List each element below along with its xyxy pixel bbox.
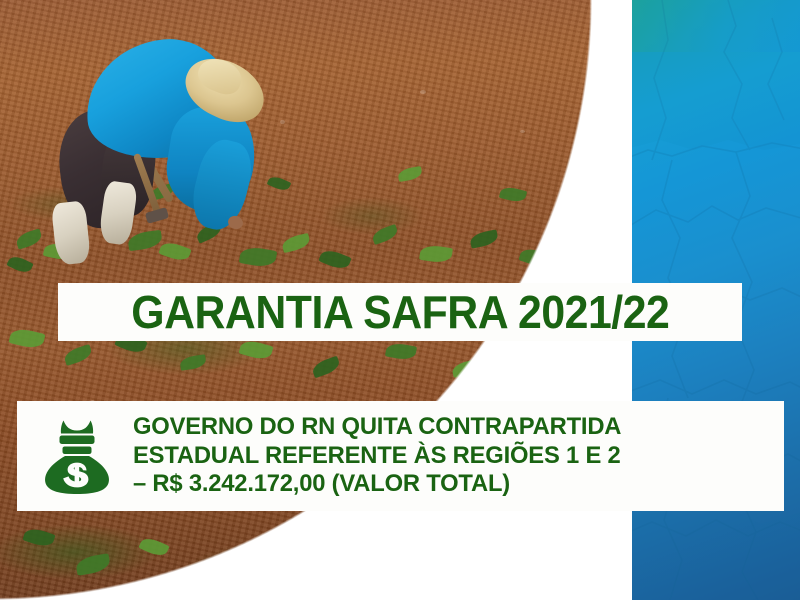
- headline-line-1: GOVERNO DO RN QUITA CONTRAPARTIDA: [133, 413, 621, 441]
- soil-speck: [420, 90, 426, 94]
- headline-line-2: ESTADUAL REFERENTE ÀS REGIÕES 1 E 2: [133, 442, 621, 470]
- soil-speck: [280, 120, 285, 124]
- headline-text: GOVERNO DO RN QUITA CONTRAPARTIDA ESTADU…: [133, 413, 621, 498]
- farmer-hand: [226, 214, 244, 231]
- farmer-boot: [51, 200, 91, 265]
- poster-canvas: GARANTIA SAFRA 2021/22 GOVERNO DO RN QUI…: [0, 0, 800, 600]
- page-title: GARANTIA SAFRA 2021/22: [131, 289, 669, 335]
- farmer-figure: [38, 34, 248, 264]
- headline-box: GOVERNO DO RN QUITA CONTRAPARTIDA ESTADU…: [17, 401, 784, 511]
- soil-speck: [520, 130, 525, 133]
- headline-line-3: – R$ 3.242.172,00 (VALOR TOTAL): [133, 470, 621, 498]
- money-bag-icon: [31, 418, 123, 494]
- hoe-blade: [145, 207, 169, 224]
- title-banner: GARANTIA SAFRA 2021/22: [58, 283, 742, 341]
